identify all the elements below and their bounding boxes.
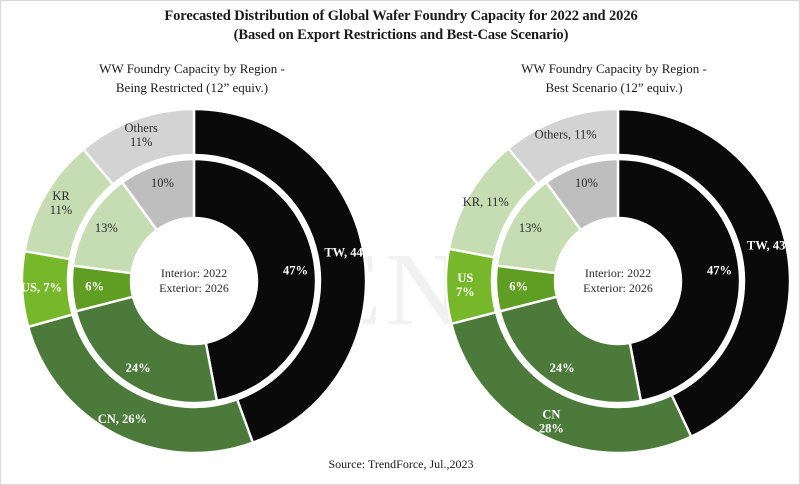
page-title-line-1: Forecasted Distribution of Global Wafer … bbox=[1, 7, 800, 26]
slice-label-kr: KR, 11% bbox=[463, 195, 509, 209]
slice-label-kr: 13% bbox=[95, 221, 118, 235]
page-title: Forecasted Distribution of Global Wafer … bbox=[1, 7, 800, 45]
right-donut-chart: 47%24%6%13%10%TW, 43%CN28%US7%KR, 11%Oth… bbox=[438, 101, 798, 461]
slice-label-cn: CN, 26% bbox=[98, 412, 147, 426]
left-chart-title: WW Foundry Capacity by Region - Being Re… bbox=[27, 59, 357, 97]
slice-label-tw: TW, 44% bbox=[324, 245, 374, 259]
slice-label-others: Others, 11% bbox=[535, 127, 597, 141]
page-title-line-2: (Based on Export Restrictions and Best-C… bbox=[1, 26, 800, 45]
slice-label-kr: KR11% bbox=[50, 189, 72, 217]
slice-label-us: US, 7% bbox=[21, 280, 62, 294]
slice-label-kr: 13% bbox=[519, 221, 542, 235]
left-donut-chart: 47%24%6%13%10%TW, 44%CN, 26%US, 7%KR11%O… bbox=[14, 101, 374, 461]
donut-center-note: Interior: 2022Exterior: 2026 bbox=[583, 266, 653, 295]
slice-label-others: 10% bbox=[151, 176, 174, 190]
slice-label-us: 6% bbox=[85, 279, 104, 293]
slice-label-cn: 24% bbox=[126, 361, 151, 375]
slice-label-us: 6% bbox=[509, 279, 528, 293]
source-note: Source: TrendForce, Jul.,2023 bbox=[1, 457, 800, 472]
donut-center-note: Interior: 2022Exterior: 2026 bbox=[159, 266, 229, 295]
slice-label-tw: 47% bbox=[283, 263, 308, 277]
slice-label-cn: 24% bbox=[550, 361, 575, 375]
donut-svg: 47%24%6%13%10%TW, 43%CN28%US7%KR, 11%Oth… bbox=[438, 101, 798, 461]
donut-svg: 47%24%6%13%10%TW, 44%CN, 26%US, 7%KR11%O… bbox=[14, 101, 374, 461]
right-chart-title: WW Foundry Capacity by Region - Best Sce… bbox=[449, 59, 779, 97]
slice-label-cn: CN28% bbox=[539, 407, 564, 435]
left-chart-title-line-2: Being Restricted (12” equiv.) bbox=[27, 78, 357, 97]
slice-label-tw: TW, 43% bbox=[747, 238, 798, 252]
right-chart-title-line-2: Best Scenario (12” equiv.) bbox=[449, 78, 779, 97]
left-chart-title-line-1: WW Foundry Capacity by Region - bbox=[27, 59, 357, 78]
chart-figure: Forecasted Distribution of Global Wafer … bbox=[0, 0, 800, 485]
slice-label-us: US7% bbox=[456, 271, 475, 299]
slice-label-others: 10% bbox=[575, 176, 598, 190]
slice-label-tw: 47% bbox=[707, 263, 732, 277]
right-chart-title-line-1: WW Foundry Capacity by Region - bbox=[449, 59, 779, 78]
